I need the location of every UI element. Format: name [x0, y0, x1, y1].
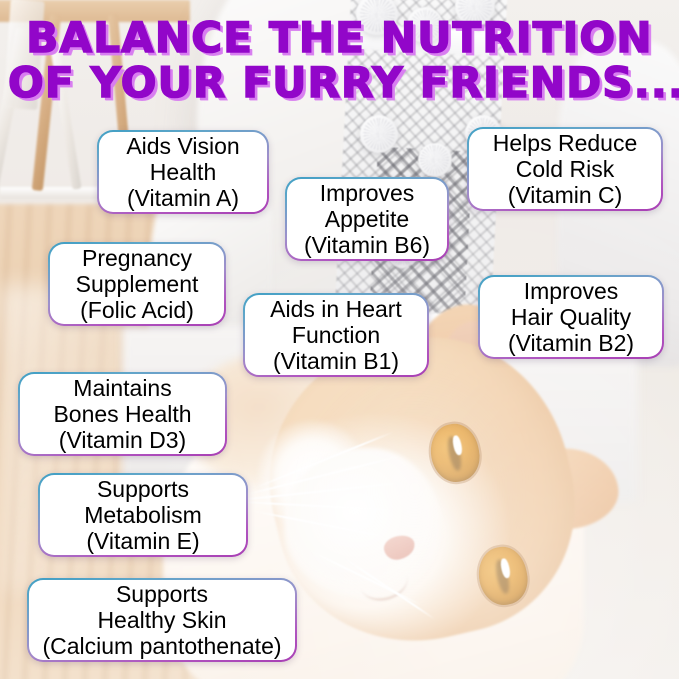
callout-line: Improves: [524, 278, 619, 304]
callout-line: Pregnancy: [82, 245, 192, 271]
callout-vitamin-b1: Aids in Heart Function (Vitamin B1): [243, 293, 429, 377]
callout-line: (Vitamin B2): [508, 330, 634, 356]
callout-body: Helps Reduce Cold Risk (Vitamin C): [469, 129, 661, 209]
callout-body: Supports Metabolism (Vitamin E): [40, 475, 246, 555]
callout-body: Improves Appetite (Vitamin B6): [287, 179, 447, 259]
callout-calcium-pantothenate: Supports Healthy Skin (Calcium pantothen…: [27, 578, 297, 662]
callout-line: Supplement: [76, 271, 199, 297]
cat-fur-highlight: [299, 367, 530, 611]
callout-line: Bones Health: [53, 401, 191, 427]
product-infographic: BALANCE THE NUTRITION OF YOUR FURRY FRIE…: [0, 0, 679, 679]
callout-folic-acid: Pregnancy Supplement (Folic Acid): [48, 242, 226, 326]
callout-line: Cold Risk: [516, 156, 614, 182]
headline-line-2: OF YOUR FURRY FRIENDS...: [8, 61, 671, 106]
callout-vitamin-d3: Maintains Bones Health (Vitamin D3): [18, 372, 227, 456]
headline: BALANCE THE NUTRITION OF YOUR FURRY FRIE…: [0, 16, 679, 106]
callout-line: (Vitamin A): [127, 185, 239, 211]
callout-line: Supports: [97, 476, 189, 502]
callout-vitamin-b2: Improves Hair Quality (Vitamin B2): [478, 275, 664, 359]
callout-line: Health: [150, 159, 216, 185]
callout-body: Maintains Bones Health (Vitamin D3): [20, 374, 225, 454]
callout-line: Supports: [116, 581, 208, 607]
callout-line: Aids Vision: [126, 133, 239, 159]
callout-line: Metabolism: [84, 502, 202, 528]
callout-line: Function: [292, 322, 380, 348]
callout-body: Aids in Heart Function (Vitamin B1): [245, 295, 427, 375]
callout-line: Maintains: [73, 375, 171, 401]
callout-line: Healthy Skin: [97, 607, 226, 633]
callout-line: (Folic Acid): [80, 297, 194, 323]
callout-line: (Vitamin B1): [273, 348, 399, 374]
callout-body: Aids Vision Health (Vitamin A): [99, 132, 267, 212]
callout-line: (Vitamin D3): [59, 427, 186, 453]
callout-body: Improves Hair Quality (Vitamin B2): [480, 277, 662, 357]
callout-body: Pregnancy Supplement (Folic Acid): [50, 244, 224, 324]
callout-line: Appetite: [325, 206, 409, 232]
callout-vitamin-a: Aids Vision Health (Vitamin A): [97, 130, 269, 214]
callout-line: Hair Quality: [511, 304, 631, 330]
callout-line: (Calcium pantothenate): [42, 633, 281, 659]
headline-line-1: BALANCE THE NUTRITION: [8, 16, 671, 61]
callout-line: Aids in Heart: [270, 296, 402, 322]
callout-line: Improves: [320, 180, 415, 206]
callout-line: Helps Reduce: [493, 130, 637, 156]
callout-vitamin-b6: Improves Appetite (Vitamin B6): [285, 177, 449, 261]
callout-line: (Vitamin C): [508, 182, 623, 208]
callout-line: (Vitamin E): [86, 528, 199, 554]
callout-vitamin-e: Supports Metabolism (Vitamin E): [38, 473, 248, 557]
callout-line: (Vitamin B6): [304, 232, 430, 258]
callout-body: Supports Healthy Skin (Calcium pantothen…: [29, 580, 295, 660]
callout-vitamin-c: Helps Reduce Cold Risk (Vitamin C): [467, 127, 663, 211]
